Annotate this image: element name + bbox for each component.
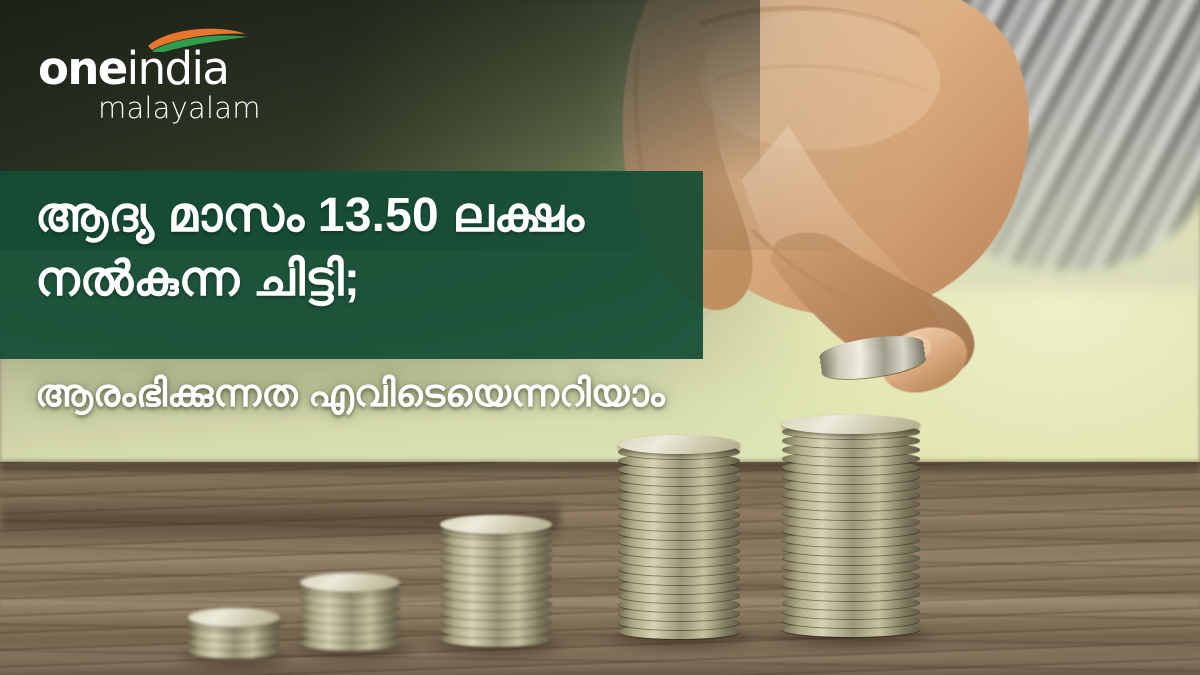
logo-malayalam-text: malayalam xyxy=(98,94,261,123)
oneindia-malayalam-logo[interactable]: oneindia malayalam xyxy=(38,26,250,118)
wooden-table xyxy=(0,462,1200,675)
coin-stack xyxy=(188,599,280,660)
coin-top xyxy=(300,573,400,592)
coin-top xyxy=(188,608,280,627)
logo-india-text: india xyxy=(127,42,229,95)
headline-block: ആദ്യ മാസം 13.50 ലക്ഷം നൽകുന്ന ചിട്ടി; xyxy=(35,184,735,313)
logo-one-text: one xyxy=(38,42,127,95)
headline-line-1: ആദ്യ മാസം 13.50 ലക്ഷം xyxy=(35,184,735,248)
news-card-image: oneindia malayalam ആദ്യ മാസം 13.50 ലക്ഷം… xyxy=(0,0,1200,675)
coin-top xyxy=(618,435,740,454)
coin-stack xyxy=(618,426,740,640)
coin-stack xyxy=(300,564,400,652)
table-grain-texture xyxy=(0,462,1200,675)
logo-wordmark: oneindia xyxy=(38,46,228,91)
coin-stack xyxy=(440,506,552,648)
headline-subline: ആരംഭിക്കുന്നത എവിടെയെന്നറിയാം xyxy=(35,372,665,418)
headline-line-2: നൽകുന്ന ചിട്ടി; xyxy=(35,248,735,312)
table-highlight-line xyxy=(0,598,1200,612)
coin-top xyxy=(782,415,920,434)
coin-stack xyxy=(782,406,920,638)
coin-top xyxy=(440,515,552,534)
